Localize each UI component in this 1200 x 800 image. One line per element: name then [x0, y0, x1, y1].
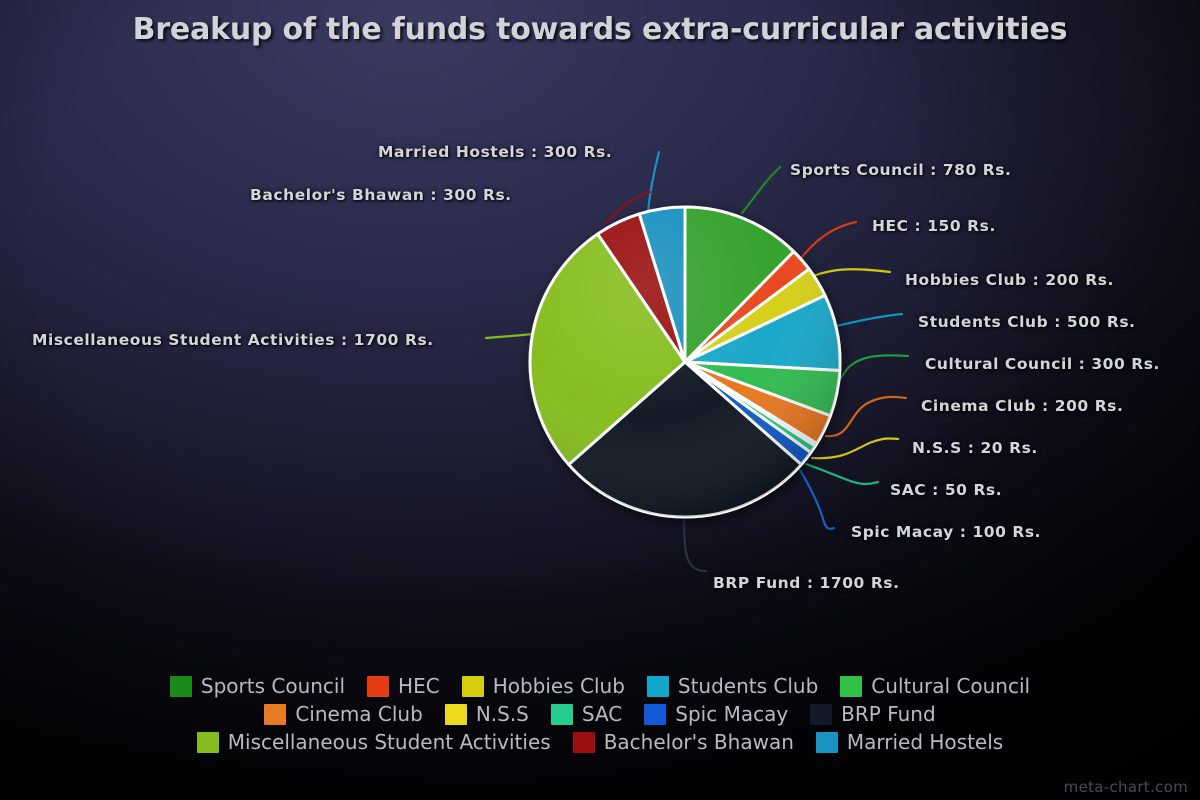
- legend-swatch-icon: [462, 676, 484, 697]
- legend-item[interactable]: Married Hostels: [816, 732, 1003, 753]
- leader-line-hec: [796, 222, 856, 264]
- callout-label-bachelors-bhawan: Bachelor's Bhawan : 300 Rs.: [250, 186, 512, 204]
- watermark: meta-chart.com: [1064, 778, 1188, 796]
- callout-label-hobbies-club: Hobbies Club : 200 Rs.: [905, 271, 1114, 289]
- legend-swatch-icon: [644, 704, 666, 725]
- pie-slices: Sports Council : 780 Rs.HEC : 150 Rs.Hob…: [530, 207, 840, 517]
- legend-item-label: Sports Council: [201, 676, 345, 696]
- legend-item[interactable]: BRP Fund: [810, 704, 936, 725]
- leader-line-cinema-club: [826, 397, 906, 436]
- chart-canvas: Breakup of the funds towards extra-curri…: [0, 0, 1200, 800]
- legend-row: Sports CouncilHECHobbies ClubStudents Cl…: [0, 672, 1200, 700]
- legend-item[interactable]: Cultural Council: [840, 676, 1030, 697]
- legend-item-label: Bachelor's Bhawan: [604, 732, 794, 752]
- callout-label-students-club: Students Club : 500 Rs.: [918, 313, 1136, 331]
- legend-item-label: SAC: [582, 704, 622, 724]
- callout-label-sports-council: Sports Council : 780 Rs.: [790, 161, 1011, 179]
- callout-label-married-hostels: Married Hostels : 300 Rs.: [378, 143, 612, 161]
- leader-line-sac: [806, 464, 878, 484]
- legend-item-label: HEC: [398, 676, 440, 696]
- legend-item[interactable]: Cinema Club: [264, 704, 423, 725]
- legend-swatch-icon: [840, 676, 862, 697]
- callout-label-hec: HEC : 150 Rs.: [872, 217, 996, 235]
- leader-line-spic-macay: [800, 470, 834, 529]
- legend-item-label: Cultural Council: [871, 676, 1030, 696]
- legend-item-label: Spic Macay: [675, 704, 788, 724]
- legend-swatch-icon: [573, 732, 595, 753]
- callout-label-nss: N.S.S : 20 Rs.: [912, 439, 1038, 457]
- callout-label-cinema-club: Cinema Club : 200 Rs.: [921, 397, 1123, 415]
- legend-swatch-icon: [170, 676, 192, 697]
- legend-item[interactable]: Bachelor's Bhawan: [573, 732, 794, 753]
- legend-row: Miscellaneous Student ActivitiesBachelor…: [0, 728, 1200, 756]
- legend-item[interactable]: Spic Macay: [644, 704, 788, 725]
- legend-item[interactable]: HEC: [367, 676, 440, 697]
- legend-swatch-icon: [445, 704, 467, 725]
- legend-item-label: Cinema Club: [295, 704, 423, 724]
- leader-line-brp-fund: [684, 520, 706, 571]
- legend-swatch-icon: [197, 732, 219, 753]
- legend-item-label: Married Hostels: [847, 732, 1003, 752]
- legend-item-label: N.S.S: [476, 704, 529, 724]
- leader-line-misc-student-acts: [486, 334, 534, 338]
- chart-legend: Sports CouncilHECHobbies ClubStudents Cl…: [0, 672, 1200, 756]
- legend-swatch-icon: [647, 676, 669, 697]
- legend-item-label: Students Club: [678, 676, 818, 696]
- legend-item-label: Miscellaneous Student Activities: [228, 732, 551, 752]
- legend-item[interactable]: Miscellaneous Student Activities: [197, 732, 551, 753]
- leader-line-married-hostels: [648, 152, 659, 212]
- callout-label-cultural-council: Cultural Council : 300 Rs.: [925, 355, 1160, 373]
- leader-line-nss: [812, 438, 898, 458]
- leader-line-sports-council: [742, 167, 780, 213]
- callout-label-sac: SAC : 50 Rs.: [890, 481, 1002, 499]
- legend-swatch-icon: [264, 704, 286, 725]
- callout-label-misc-student-acts: Miscellaneous Student Activities : 1700 …: [32, 331, 434, 349]
- legend-item-label: Hobbies Club: [493, 676, 625, 696]
- legend-item[interactable]: SAC: [551, 704, 622, 725]
- legend-item-label: BRP Fund: [841, 704, 936, 724]
- legend-swatch-icon: [810, 704, 832, 725]
- legend-swatch-icon: [816, 732, 838, 753]
- legend-swatch-icon: [367, 676, 389, 697]
- legend-row: Cinema ClubN.S.SSACSpic MacayBRP Fund: [0, 700, 1200, 728]
- callout-label-spic-macay: Spic Macay : 100 Rs.: [851, 523, 1041, 541]
- callout-label-brp-fund: BRP Fund : 1700 Rs.: [713, 574, 900, 592]
- legend-item[interactable]: Students Club: [647, 676, 818, 697]
- legend-item[interactable]: N.S.S: [445, 704, 529, 725]
- legend-item[interactable]: Sports Council: [170, 676, 345, 697]
- legend-swatch-icon: [551, 704, 573, 725]
- legend-item[interactable]: Hobbies Club: [462, 676, 625, 697]
